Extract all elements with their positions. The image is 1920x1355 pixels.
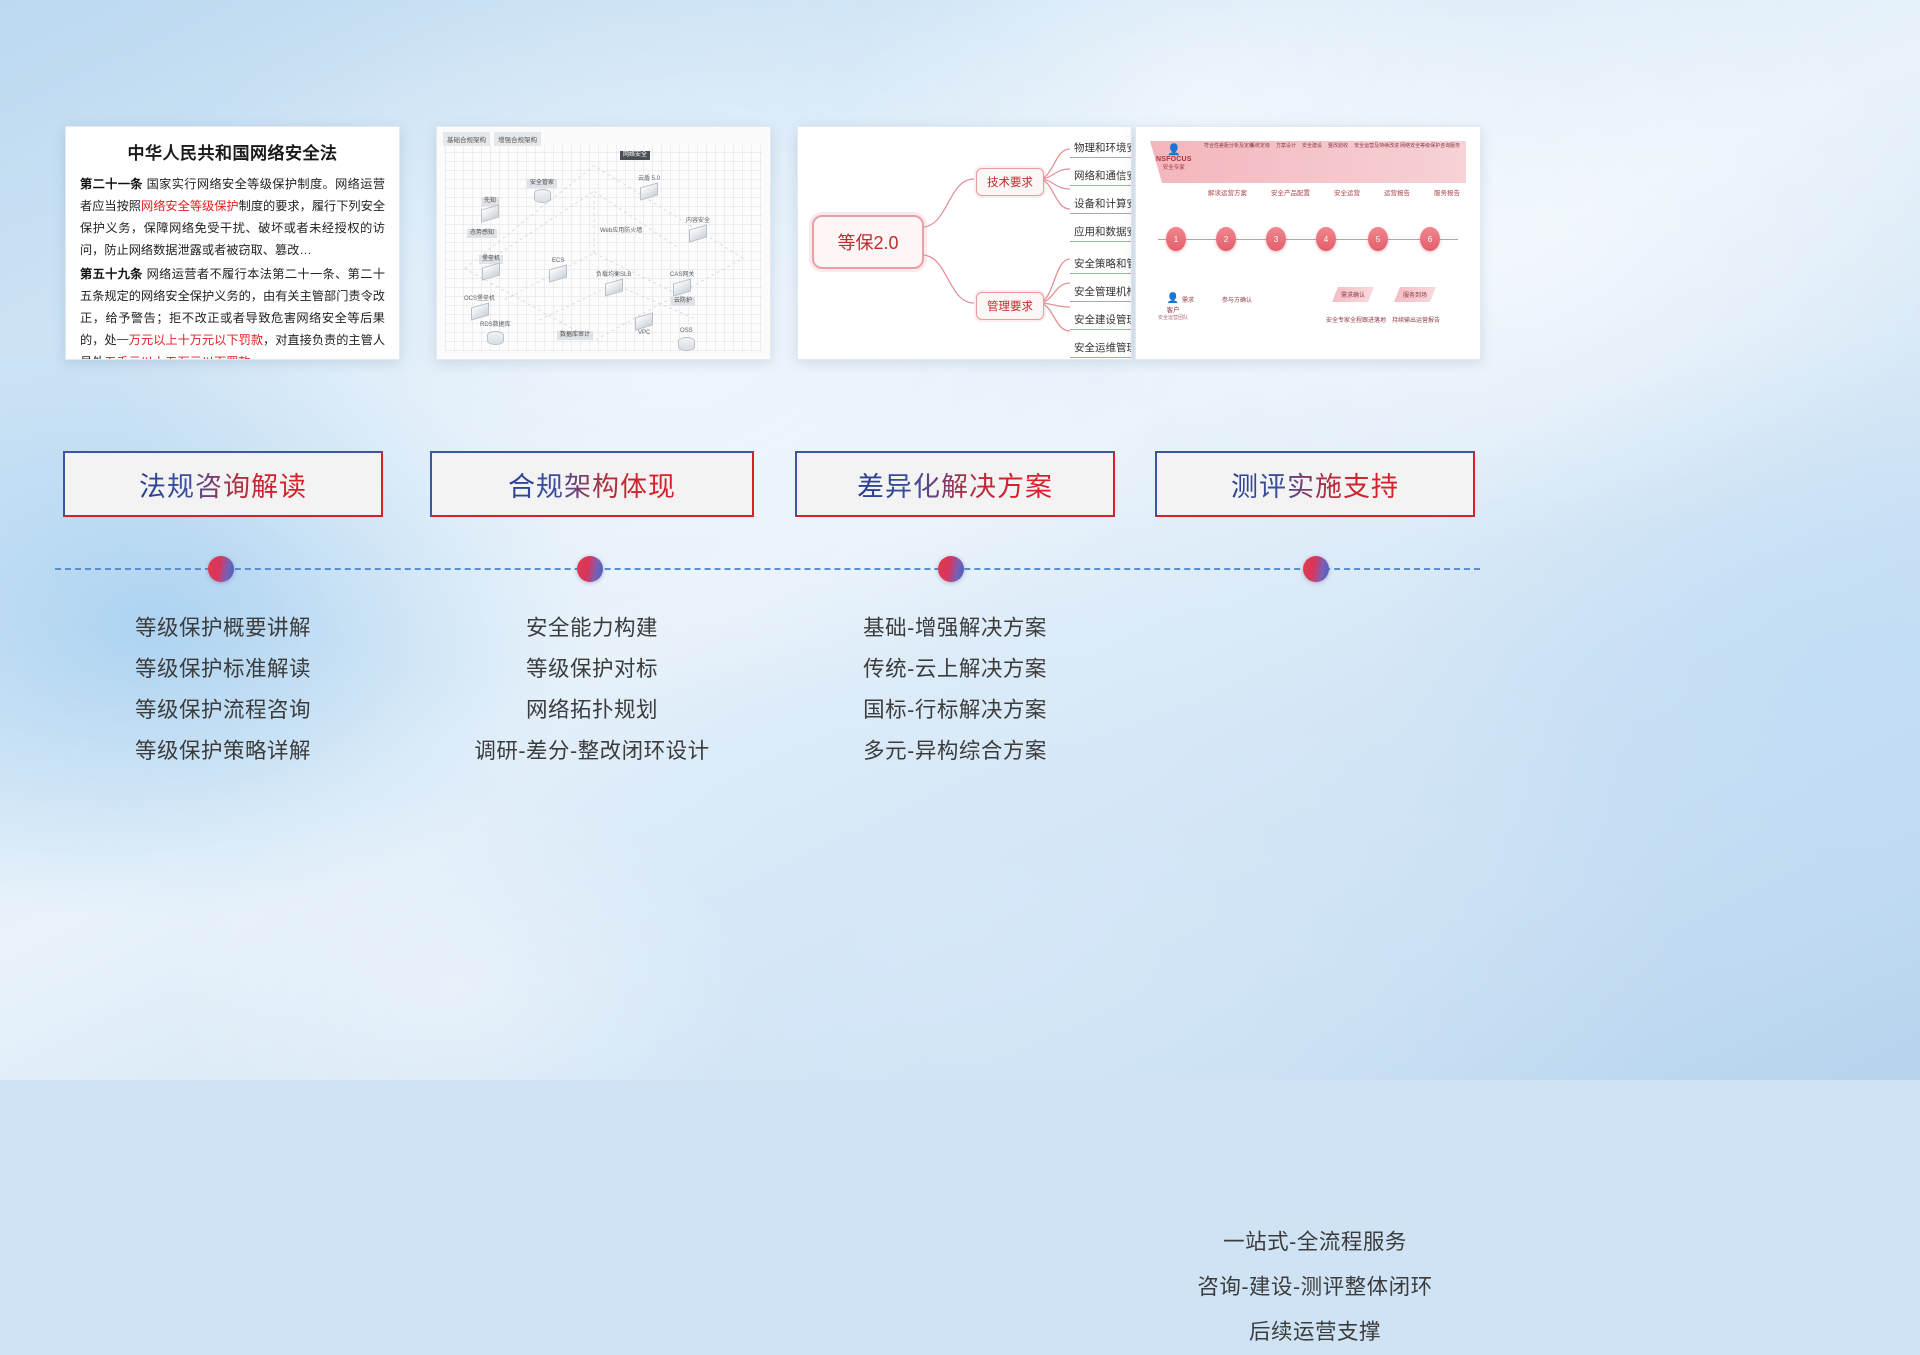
arch-node-situational-awareness: 态势感知 bbox=[467, 229, 497, 238]
arch-node-cloud-shield: 云防护 bbox=[671, 297, 695, 306]
detail-item: 一站式-全流程服务 bbox=[1150, 1220, 1480, 1265]
cube-shape bbox=[549, 264, 567, 282]
cube-shape bbox=[482, 262, 500, 280]
law-run: 。 bbox=[251, 355, 263, 360]
law-title: 中华人民共和国网络安全法 bbox=[80, 139, 385, 164]
customer-label: 客户 bbox=[1158, 304, 1188, 314]
arch-node-security-butler: 安全管家 bbox=[527, 179, 557, 203]
detail-item: 多元-异构综合方案 bbox=[793, 731, 1117, 772]
architecture-tab-basic[interactable]: 基础合规架构 bbox=[443, 132, 490, 146]
detail-columns: 等级保护概要讲解 等级保护标准解读 等级保护流程咨询 等级保护策略详解 安全能力… bbox=[0, 608, 1920, 808]
cube-shape bbox=[481, 204, 499, 222]
timeline-dot-solution[interactable] bbox=[938, 556, 964, 582]
card-service-roadmap[interactable]: 👤 NSFOCUS 安全专家 符合性差距分析及定级 系统定级 方案设计 安全建设… bbox=[1135, 126, 1481, 360]
sub-item: 服务报告 bbox=[1434, 187, 1460, 197]
brand-tagline: 安全专家 bbox=[1156, 163, 1192, 171]
mindmap-root: 等保2.0 bbox=[812, 215, 924, 269]
arch-node-ocs-bastion: OCS堡垒机 bbox=[461, 295, 498, 318]
band-item: 网络安全等级保护咨询服务 bbox=[1400, 143, 1440, 149]
arch-node-xianzhi: 先知 bbox=[481, 197, 499, 220]
detail-item: 调研-差分-整改闭环设计 bbox=[430, 731, 754, 772]
arch-node-label: 负载均衡SLB bbox=[593, 271, 634, 280]
mindmap-leaf: 安全策略和管理制度 bbox=[1070, 255, 1132, 274]
law-run-highlight: 一万元以上十万元以下罚款 bbox=[117, 333, 263, 347]
band-item: 系统定级 bbox=[1250, 143, 1270, 149]
section-label-assessment[interactable]: 测评实施支持 bbox=[1155, 451, 1475, 517]
arch-node-label: 安全管家 bbox=[527, 179, 557, 188]
cube-shape bbox=[605, 278, 623, 296]
roadmap-chip: 服务到场 bbox=[1394, 287, 1436, 302]
sub-item: 运营报告 bbox=[1384, 187, 1410, 197]
illustration-cards-row: 中华人民共和国网络安全法 第二十一条 国家实行网络安全等级保护制度。网络运营者应… bbox=[0, 126, 1920, 362]
arch-node-label: CAS网关 bbox=[667, 271, 697, 280]
roadmap-tag: 参与方确认 bbox=[1222, 295, 1252, 304]
section-label-text: 法规咨询解读 bbox=[139, 465, 307, 504]
band-item: 符合性差距分析及定级 bbox=[1204, 143, 1244, 149]
law-article-number: 第二十一条 bbox=[80, 177, 143, 191]
arch-node-label: 云防护 bbox=[671, 297, 695, 306]
section-label-solution[interactable]: 差异化解决方案 bbox=[795, 451, 1115, 517]
architecture-tab-enhanced[interactable]: 增强合规架构 bbox=[494, 132, 541, 146]
detail-item: 安全能力构建 bbox=[430, 608, 754, 649]
law-paragraph-21: 第二十一条 国家实行网络安全等级保护制度。网络运营者应当按照网络安全等级保护制度… bbox=[80, 173, 385, 261]
detail-column-architecture: 安全能力构建 等级保护对标 网络拓扑规划 调研-差分-整改闭环设计 bbox=[430, 608, 754, 772]
mindmap-branch-technical: 技术要求 bbox=[976, 168, 1044, 196]
cylinder-shape bbox=[487, 331, 504, 345]
cube-shape bbox=[640, 182, 658, 200]
person-icon: 👤 bbox=[1156, 143, 1192, 156]
roadmap-footnote: 持续输出运营报告 bbox=[1392, 315, 1440, 324]
roadmap-milestone: 2 bbox=[1216, 227, 1236, 251]
roadmap-brand: 👤 NSFOCUS 安全专家 bbox=[1156, 143, 1192, 171]
mindmap-leaf: 物理和环境安全 bbox=[1070, 139, 1132, 158]
card-mindmap-dengbao[interactable]: 等保2.0 技术要求 管理要求 物理和环境安全 网络和通信安全 设备和计算安全 … bbox=[797, 126, 1132, 360]
detail-column-assessment: 一站式-全流程服务 咨询-建设-测评整体闭环 后续运营支撑 bbox=[1150, 1220, 1480, 1355]
detail-item: 等级保护概要讲解 bbox=[63, 608, 383, 649]
arch-node-ecs: ECS bbox=[549, 257, 567, 280]
mindmap-leaf: 安全建设管理 bbox=[1070, 311, 1132, 330]
cube-shape bbox=[471, 302, 489, 320]
arch-node-label: 网络安全 bbox=[620, 151, 650, 160]
arch-node-label: VPC bbox=[635, 329, 653, 338]
law-paragraph-59: 第五十九条 网络运营者不履行本法第二十一条、第二十五条规定的网络安全保护义务的，… bbox=[80, 263, 385, 360]
detail-item: 国标-行标解决方案 bbox=[793, 690, 1117, 731]
mindmap-leaf: 安全管理机构和人员 bbox=[1070, 283, 1132, 302]
roadmap-sub-items: 解读运营方案 安全产品配置 安全运营 运营报告 服务报告 bbox=[1208, 187, 1460, 197]
card-compliance-architecture[interactable]: 基础合规架构 增强合规架构 网 bbox=[436, 126, 771, 360]
arch-node-network-security: 网络安全 bbox=[620, 151, 650, 160]
sub-item: 解读运营方案 bbox=[1208, 187, 1247, 197]
mindmap-leaf: 设备和计算安全 bbox=[1070, 195, 1132, 214]
section-label-architecture[interactable]: 合规架构体现 bbox=[430, 451, 754, 517]
roadmap-milestone: 4 bbox=[1316, 227, 1336, 251]
law-article-number: 第五十九条 bbox=[80, 267, 143, 281]
arch-node-slb: 负载均衡SLB bbox=[593, 271, 634, 294]
customer-sublabel: 安全运营团队 bbox=[1158, 314, 1188, 321]
arch-node-label: OCS堡垒机 bbox=[461, 295, 498, 304]
band-item: 安全运营及持续改进 bbox=[1354, 143, 1394, 149]
band-item: 安全建设 bbox=[1302, 143, 1322, 149]
law-run-highlight: 网络安全等级保护 bbox=[141, 199, 239, 213]
arch-node-oss: OSS bbox=[677, 327, 696, 351]
arch-node-label: RDS数据库 bbox=[477, 321, 514, 330]
timeline-dashed-line bbox=[55, 568, 1480, 572]
arch-node-label: Web应用防火墙 bbox=[597, 227, 645, 236]
cube-shape bbox=[635, 312, 653, 330]
architecture-diagram: 基础合规架构 增强合规架构 网 bbox=[437, 127, 770, 359]
timeline-dot-assessment[interactable] bbox=[1303, 556, 1329, 582]
roadmap-milestone: 1 bbox=[1166, 227, 1186, 251]
cylinder-shape bbox=[534, 189, 551, 203]
detail-column-regulation: 等级保护概要讲解 等级保护标准解读 等级保护流程咨询 等级保护策略详解 bbox=[63, 608, 383, 772]
detail-item: 等级保护标准解读 bbox=[63, 649, 383, 690]
mindmap-leaf: 应用和数据安全 bbox=[1070, 223, 1132, 242]
section-label-text: 测评实施支持 bbox=[1231, 465, 1399, 504]
mindmap-leaf: 安全运维管理 bbox=[1070, 339, 1132, 358]
timeline-dot-regulation[interactable] bbox=[208, 556, 234, 582]
roadmap-milestone: 3 bbox=[1266, 227, 1286, 251]
roadmap-customer: 👤 客户 安全运营团队 bbox=[1158, 293, 1188, 321]
card-cybersecurity-law[interactable]: 中华人民共和国网络安全法 第二十一条 国家实行网络安全等级保护制度。网络运营者应… bbox=[65, 126, 400, 360]
arch-node-waf: Web应用防火墙 bbox=[597, 227, 645, 236]
detail-column-solution: 基础-增强解决方案 传统-云上解决方案 国标-行标解决方案 多元-异构综合方案 bbox=[793, 608, 1117, 772]
arch-node-label: OSS bbox=[677, 327, 696, 336]
roadmap-footnote: 安全专家全程跟进落地 bbox=[1326, 315, 1386, 324]
arch-node-yundun: 云盾 5.0 bbox=[635, 175, 663, 198]
detail-item: 等级保护对标 bbox=[430, 649, 754, 690]
roadmap-milestone: 6 bbox=[1420, 227, 1440, 251]
architecture-tabs[interactable]: 基础合规架构 增强合规架构 bbox=[443, 132, 541, 146]
sub-item: 安全运营 bbox=[1334, 187, 1360, 197]
detail-item: 等级保护策略详解 bbox=[63, 731, 383, 772]
section-label-text: 差异化解决方案 bbox=[857, 465, 1053, 504]
band-item: 整改验收 bbox=[1328, 143, 1348, 149]
arch-node-vpc: VPC bbox=[635, 315, 653, 338]
arch-node-rds: RDS数据库 bbox=[477, 321, 514, 345]
roadmap-axis bbox=[1158, 239, 1458, 240]
section-label-regulation[interactable]: 法规咨询解读 bbox=[63, 451, 383, 517]
cube-shape bbox=[689, 224, 707, 242]
arch-node-cas-gateway: CAS网关 bbox=[667, 271, 697, 294]
detail-item: 后续运营支撑 bbox=[1150, 1310, 1480, 1355]
arch-node-label: 云盾 5.0 bbox=[635, 175, 663, 184]
law-run-highlight: 五千元以上五万元以下罚款 bbox=[104, 355, 250, 360]
detail-item: 等级保护流程咨询 bbox=[63, 690, 383, 731]
cylinder-shape bbox=[678, 337, 695, 351]
mindmap-branch-management: 管理要求 bbox=[976, 292, 1044, 320]
detail-item: 网络拓扑规划 bbox=[430, 690, 754, 731]
section-label-text: 合规架构体现 bbox=[508, 465, 676, 504]
detail-item: 基础-增强解决方案 bbox=[793, 608, 1117, 649]
arch-node-content-security: 内容安全 bbox=[683, 217, 713, 240]
sub-item: 安全产品配置 bbox=[1271, 187, 1310, 197]
customer-icon: 👤 bbox=[1158, 293, 1188, 304]
section-labels-row: 法规咨询解读 合规架构体现 差异化解决方案 测评实施支持 bbox=[0, 451, 1920, 517]
brand-name: NSFOCUS bbox=[1156, 156, 1192, 163]
arch-node-label: 数据库审计 bbox=[557, 331, 593, 340]
arch-node-db-audit: 数据库审计 bbox=[557, 331, 593, 340]
mindmap-leaf: 网络和通信安全 bbox=[1070, 167, 1132, 186]
arch-node-bastion: 堡垒机 bbox=[479, 255, 503, 278]
cube-shape bbox=[673, 278, 691, 296]
roadmap-chip: 需求确认 bbox=[1332, 287, 1374, 302]
detail-item: 传统-云上解决方案 bbox=[793, 649, 1117, 690]
architecture-canvas: 网络安全 安全管家 先知 态势感知 堡垒机 OCS堡垒 bbox=[445, 145, 762, 351]
timeline-dot-architecture[interactable] bbox=[577, 556, 603, 582]
arch-node-label: 内容安全 bbox=[683, 217, 713, 226]
arch-node-label: 态势感知 bbox=[467, 229, 497, 238]
roadmap-milestone: 5 bbox=[1368, 227, 1388, 251]
roadmap-band-items: 符合性差距分析及定级 系统定级 方案设计 安全建设 整改验收 安全运营及持续改进… bbox=[1204, 143, 1440, 149]
mindmap: 等保2.0 技术要求 管理要求 物理和环境安全 网络和通信安全 设备和计算安全 … bbox=[798, 127, 1131, 359]
band-item: 方案设计 bbox=[1276, 143, 1296, 149]
detail-item: 咨询-建设-测评整体闭环 bbox=[1150, 1265, 1480, 1310]
roadmap: 👤 NSFOCUS 安全专家 符合性差距分析及定级 系统定级 方案设计 安全建设… bbox=[1136, 127, 1480, 359]
